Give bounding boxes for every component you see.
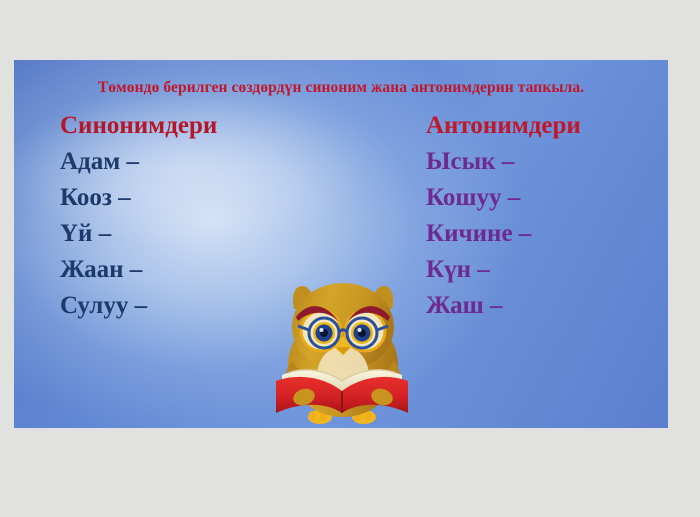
list-item: Үй – bbox=[60, 216, 217, 252]
page-title: Төмөндө берилген сөздөрдүн синоним жана … bbox=[14, 79, 668, 97]
screenshot-canvas: Төмөндө берилген сөздөрдүн синоним жана … bbox=[0, 0, 700, 517]
list-item: Кооз – bbox=[60, 180, 217, 216]
antonyms-list: Ысык – Кошуу – Кичине – Күн – Жаш – bbox=[426, 144, 581, 324]
list-item: Кошуу – bbox=[426, 180, 581, 216]
list-item: Жаш – bbox=[426, 288, 581, 324]
list-item: Сулуу – bbox=[60, 288, 217, 324]
list-item: Күн – bbox=[426, 252, 581, 288]
list-item: Ысык – bbox=[426, 144, 581, 180]
list-item: Адам – bbox=[60, 144, 217, 180]
synonyms-list: Адам – Кооз – Үй – Жаан – Сулуу – bbox=[60, 144, 217, 324]
antonyms-header: Антонимдери bbox=[426, 108, 581, 144]
antonyms-column: Антонимдери Ысык – Кошуу – Кичине – Күн … bbox=[426, 108, 581, 324]
synonyms-header: Синонимдери bbox=[60, 108, 217, 144]
owl-reading-book-icon bbox=[268, 273, 418, 428]
list-item: Кичине – bbox=[426, 216, 581, 252]
list-item: Жаан – bbox=[60, 252, 217, 288]
presentation-slide: Төмөндө берилген сөздөрдүн синоним жана … bbox=[14, 60, 668, 428]
synonyms-column: Синонимдери Адам – Кооз – Үй – Жаан – Су… bbox=[60, 108, 217, 324]
